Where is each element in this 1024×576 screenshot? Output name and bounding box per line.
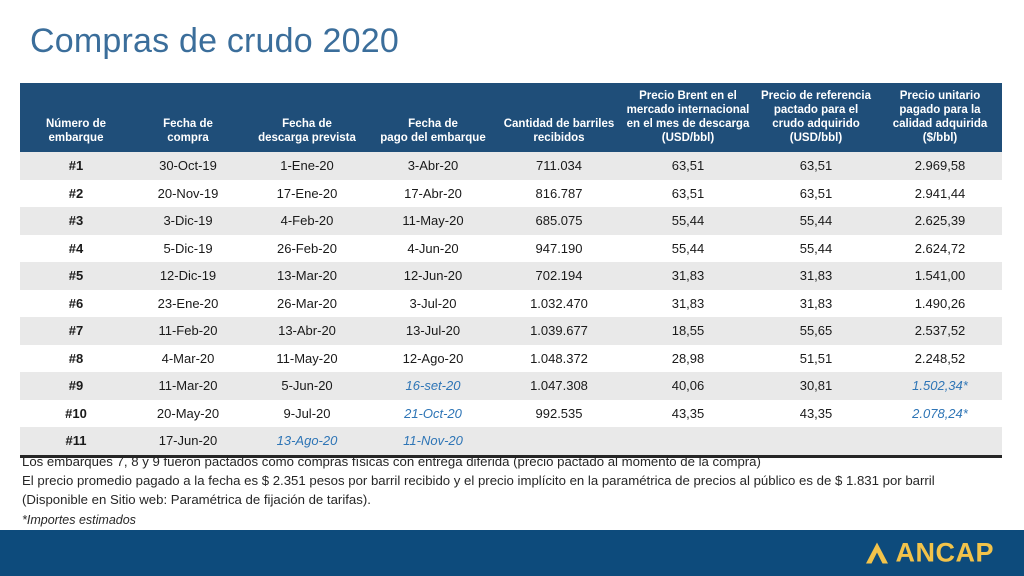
column-header-line: embarque bbox=[23, 131, 129, 145]
column-header-line: (USD/bbl) bbox=[757, 131, 875, 145]
table-row: #130-Oct-191-Ene-203-Abr-20711.03463,516… bbox=[20, 152, 1002, 180]
cell-barriles: 711.034 bbox=[496, 152, 622, 180]
cell-unitario: 1.502,34* bbox=[878, 372, 1002, 400]
brand-name: ANCAP bbox=[895, 538, 994, 569]
column-header-line: Precio de referencia bbox=[757, 89, 875, 103]
cell-brent: 63,51 bbox=[622, 152, 754, 180]
cell-unitario: 2.969,58 bbox=[878, 152, 1002, 180]
cell-brent: 18,55 bbox=[622, 317, 754, 345]
column-header-2: Fecha dedescarga prevista bbox=[244, 83, 370, 152]
cell-fecha_pago: 4-Jun-20 bbox=[370, 235, 496, 263]
cell-barriles: 702.194 bbox=[496, 262, 622, 290]
cell-referencia: 51,51 bbox=[754, 345, 878, 373]
cell-fecha_compra: 3-Dic-19 bbox=[132, 207, 244, 235]
column-header-0: Número deembarque bbox=[20, 83, 132, 152]
column-header-line: pago del embarque bbox=[373, 131, 493, 145]
cell-fecha_compra: 20-May-20 bbox=[132, 400, 244, 428]
cell-embarque: #5 bbox=[20, 262, 132, 290]
footer-bar: ANCAP bbox=[0, 530, 1024, 576]
column-header-1: Fecha decompra bbox=[132, 83, 244, 152]
column-header-line: mercado internacional bbox=[625, 103, 751, 117]
column-header-line: pactado para el bbox=[757, 103, 875, 117]
cell-fecha_pago: 12-Ago-20 bbox=[370, 345, 496, 373]
cell-brent: 40,06 bbox=[622, 372, 754, 400]
cell-barriles: 1.039.677 bbox=[496, 317, 622, 345]
column-header-line: en el mes de descarga bbox=[625, 117, 751, 131]
cell-fecha_descarga: 11-May-20 bbox=[244, 345, 370, 373]
page-title: Compras de crudo 2020 bbox=[30, 22, 399, 61]
chevron-up-icon bbox=[866, 543, 888, 564]
ancap-logo: ANCAP bbox=[866, 538, 994, 569]
column-header-line: pagado para la bbox=[881, 103, 999, 117]
table-row: #1020-May-209-Jul-2021-Oct-20992.53543,3… bbox=[20, 400, 1002, 428]
column-header-line: calidad adquirida bbox=[881, 117, 999, 131]
cell-fecha_pago: 13-Jul-20 bbox=[370, 317, 496, 345]
cell-fecha_compra: 20-Nov-19 bbox=[132, 180, 244, 208]
cell-embarque: #2 bbox=[20, 180, 132, 208]
cell-brent: 55,44 bbox=[622, 207, 754, 235]
cell-fecha_descarga: 5-Jun-20 bbox=[244, 372, 370, 400]
cell-fecha_compra: 12-Dic-19 bbox=[132, 262, 244, 290]
cell-referencia: 55,44 bbox=[754, 235, 878, 263]
cell-referencia: 31,83 bbox=[754, 262, 878, 290]
column-header-line: Fecha de bbox=[135, 117, 241, 131]
column-header-line: Número de bbox=[23, 117, 129, 131]
column-header-line: compra bbox=[135, 131, 241, 145]
cell-fecha_compra: 4-Mar-20 bbox=[132, 345, 244, 373]
cell-embarque: #3 bbox=[20, 207, 132, 235]
table-row: #45-Dic-1926-Feb-204-Jun-20947.19055,445… bbox=[20, 235, 1002, 263]
column-header-line: Precio Brent en el bbox=[625, 89, 751, 103]
cell-unitario: 2.625,39 bbox=[878, 207, 1002, 235]
cell-barriles: 685.075 bbox=[496, 207, 622, 235]
column-header-line: ($/bbl) bbox=[881, 131, 999, 145]
cell-barriles: 947.190 bbox=[496, 235, 622, 263]
cell-embarque: #1 bbox=[20, 152, 132, 180]
column-header-line: Precio unitario bbox=[881, 89, 999, 103]
cell-brent: 43,35 bbox=[622, 400, 754, 428]
cell-brent: 31,83 bbox=[622, 290, 754, 318]
cell-fecha_descarga: 9-Jul-20 bbox=[244, 400, 370, 428]
cell-referencia: 63,51 bbox=[754, 180, 878, 208]
cell-fecha_compra: 5-Dic-19 bbox=[132, 235, 244, 263]
cell-fecha_descarga: 17-Ene-20 bbox=[244, 180, 370, 208]
cell-fecha_compra: 11-Feb-20 bbox=[132, 317, 244, 345]
column-header-line: descarga prevista bbox=[247, 131, 367, 145]
cell-fecha_descarga: 13-Mar-20 bbox=[244, 262, 370, 290]
cell-fecha_compra: 23-Ene-20 bbox=[132, 290, 244, 318]
cell-unitario: 2.537,52 bbox=[878, 317, 1002, 345]
cell-barriles: 1.048.372 bbox=[496, 345, 622, 373]
cell-unitario: 2.248,52 bbox=[878, 345, 1002, 373]
cell-referencia: 30,81 bbox=[754, 372, 878, 400]
cell-brent: 55,44 bbox=[622, 235, 754, 263]
table-header-row: Número deembarqueFecha decompraFecha ded… bbox=[20, 83, 1002, 152]
cell-brent: 28,98 bbox=[622, 345, 754, 373]
cell-referencia: 55,65 bbox=[754, 317, 878, 345]
table-body: #130-Oct-191-Ene-203-Abr-20711.03463,516… bbox=[20, 152, 1002, 456]
footnote-line-1: Los embarques 7, 8 y 9 fueron pactados c… bbox=[22, 452, 997, 471]
cell-fecha_descarga: 26-Feb-20 bbox=[244, 235, 370, 263]
cell-unitario: 1.541,00 bbox=[878, 262, 1002, 290]
cell-referencia: 31,83 bbox=[754, 290, 878, 318]
cell-barriles: 1.032.470 bbox=[496, 290, 622, 318]
cell-referencia: 43,35 bbox=[754, 400, 878, 428]
cell-embarque: #4 bbox=[20, 235, 132, 263]
column-header-line: recibidos bbox=[499, 131, 619, 145]
footnote-estimates: *Importes estimados bbox=[22, 511, 997, 529]
column-header-line: Cantidad de barriles bbox=[499, 117, 619, 131]
cell-barriles: 816.787 bbox=[496, 180, 622, 208]
cell-fecha_descarga: 4-Feb-20 bbox=[244, 207, 370, 235]
column-header-3: Fecha depago del embarque bbox=[370, 83, 496, 152]
cell-embarque: #7 bbox=[20, 317, 132, 345]
table-row: #711-Feb-2013-Abr-2013-Jul-201.039.67718… bbox=[20, 317, 1002, 345]
cell-fecha_pago: 21-Oct-20 bbox=[370, 400, 496, 428]
column-header-5: Precio Brent en elmercado internacionale… bbox=[622, 83, 754, 152]
cell-fecha_descarga: 1-Ene-20 bbox=[244, 152, 370, 180]
cell-fecha_pago: 17-Abr-20 bbox=[370, 180, 496, 208]
column-header-line: (USD/bbl) bbox=[625, 131, 751, 145]
cell-embarque: #9 bbox=[20, 372, 132, 400]
footnote-line-2: El precio promedio pagado a la fecha es … bbox=[22, 471, 997, 509]
cell-fecha_pago: 3-Abr-20 bbox=[370, 152, 496, 180]
table-row: #512-Dic-1913-Mar-2012-Jun-20702.19431,8… bbox=[20, 262, 1002, 290]
cell-brent: 63,51 bbox=[622, 180, 754, 208]
cell-fecha_pago: 11-May-20 bbox=[370, 207, 496, 235]
cell-fecha_pago: 3-Jul-20 bbox=[370, 290, 496, 318]
cell-fecha_descarga: 13-Abr-20 bbox=[244, 317, 370, 345]
cell-fecha_compra: 30-Oct-19 bbox=[132, 152, 244, 180]
cell-unitario: 1.490,26 bbox=[878, 290, 1002, 318]
cell-embarque: #6 bbox=[20, 290, 132, 318]
cell-fecha_pago: 12-Jun-20 bbox=[370, 262, 496, 290]
cell-barriles: 1.047.308 bbox=[496, 372, 622, 400]
column-header-line: Fecha de bbox=[373, 117, 493, 131]
table-header: Número deembarqueFecha decompraFecha ded… bbox=[20, 83, 1002, 152]
cell-fecha_pago: 16-set-20 bbox=[370, 372, 496, 400]
cell-fecha_descarga: 26-Mar-20 bbox=[244, 290, 370, 318]
cell-embarque: #10 bbox=[20, 400, 132, 428]
cell-barriles: 992.535 bbox=[496, 400, 622, 428]
cell-referencia: 63,51 bbox=[754, 152, 878, 180]
cell-brent: 31,83 bbox=[622, 262, 754, 290]
cell-embarque: #8 bbox=[20, 345, 132, 373]
column-header-4: Cantidad de barrilesrecibidos bbox=[496, 83, 622, 152]
table-row: #84-Mar-2011-May-2012-Ago-201.048.37228,… bbox=[20, 345, 1002, 373]
column-header-7: Precio unitariopagado para lacalidad adq… bbox=[878, 83, 1002, 152]
cell-referencia: 55,44 bbox=[754, 207, 878, 235]
column-header-line: Fecha de bbox=[247, 117, 367, 131]
cell-unitario: 2.941,44 bbox=[878, 180, 1002, 208]
column-header-6: Precio de referenciapactado para elcrudo… bbox=[754, 83, 878, 152]
footnotes: Los embarques 7, 8 y 9 fueron pactados c… bbox=[22, 452, 997, 530]
table-row: #623-Ene-2026-Mar-203-Jul-201.032.47031,… bbox=[20, 290, 1002, 318]
column-header-line: crudo adquirido bbox=[757, 117, 875, 131]
cell-fecha_compra: 11-Mar-20 bbox=[132, 372, 244, 400]
table-row: #33-Dic-194-Feb-2011-May-20685.07555,445… bbox=[20, 207, 1002, 235]
cell-unitario: 2.624,72 bbox=[878, 235, 1002, 263]
table-row: #220-Nov-1917-Ene-2017-Abr-20816.78763,5… bbox=[20, 180, 1002, 208]
table-row: #911-Mar-205-Jun-2016-set-201.047.30840,… bbox=[20, 372, 1002, 400]
crude-purchases-table: Número deembarqueFecha decompraFecha ded… bbox=[20, 83, 1002, 458]
cell-unitario: 2.078,24* bbox=[878, 400, 1002, 428]
